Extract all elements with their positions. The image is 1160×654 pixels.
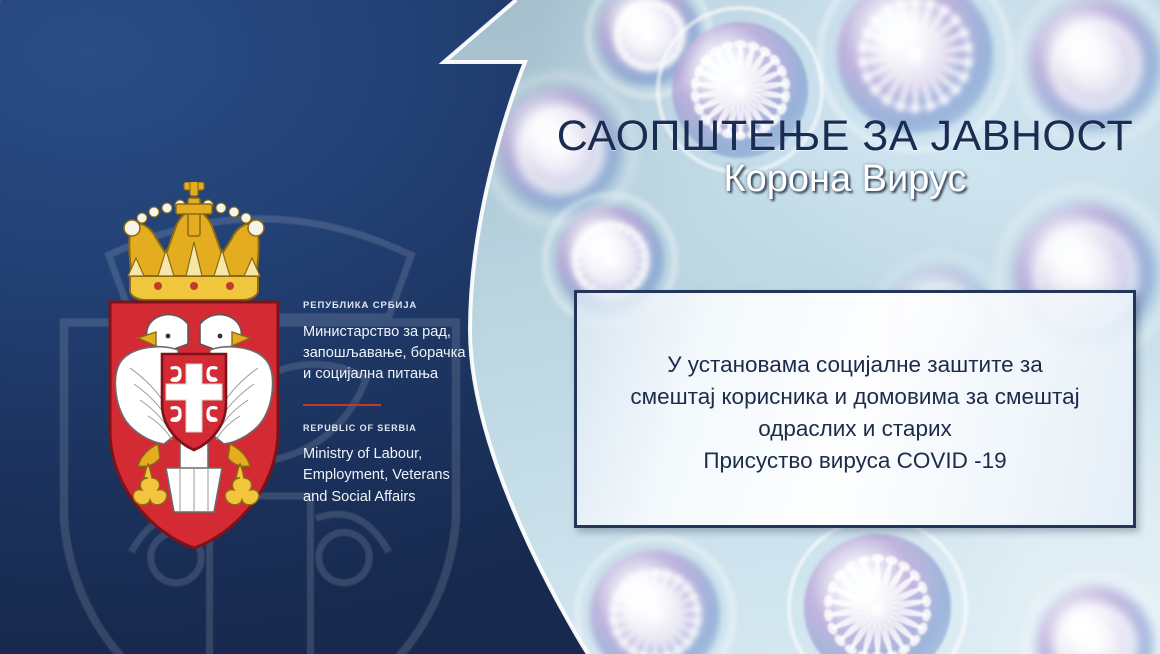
serbian-coat-of-arms bbox=[96, 182, 292, 562]
virus-particle bbox=[1010, 560, 1160, 654]
notice-text: У установама социјалне заштите за смешта… bbox=[620, 349, 1089, 477]
notice-box: У установама социјалне заштите за смешта… bbox=[574, 290, 1136, 528]
wordmark-divider bbox=[303, 404, 381, 407]
press-release-poster: РЕПУБЛИКА СРБИЈА Министарство за рад, за… bbox=[0, 0, 1160, 654]
ministry-wordmark: РЕПУБЛИКА СРБИЈА Министарство за рад, за… bbox=[303, 300, 503, 508]
virus-particle bbox=[574, 0, 724, 110]
ministry-name-en: Ministry of Labour, Employment, Veterans… bbox=[303, 444, 503, 508]
republic-kicker-en: REPUBLIC OF SERBIA bbox=[303, 423, 503, 433]
page-subtitle: Корона Вирус bbox=[545, 158, 1145, 201]
page-title: САОПШТЕЊЕ ЗА ЈАВНОСТ bbox=[545, 112, 1145, 161]
republic-kicker-sr: РЕПУБЛИКА СРБИЈА bbox=[303, 300, 503, 311]
virus-particle bbox=[560, 520, 750, 654]
crown-icon bbox=[124, 182, 264, 300]
ministry-name-sr: Министарство за рад, запошљавање, борачк… bbox=[303, 322, 503, 385]
